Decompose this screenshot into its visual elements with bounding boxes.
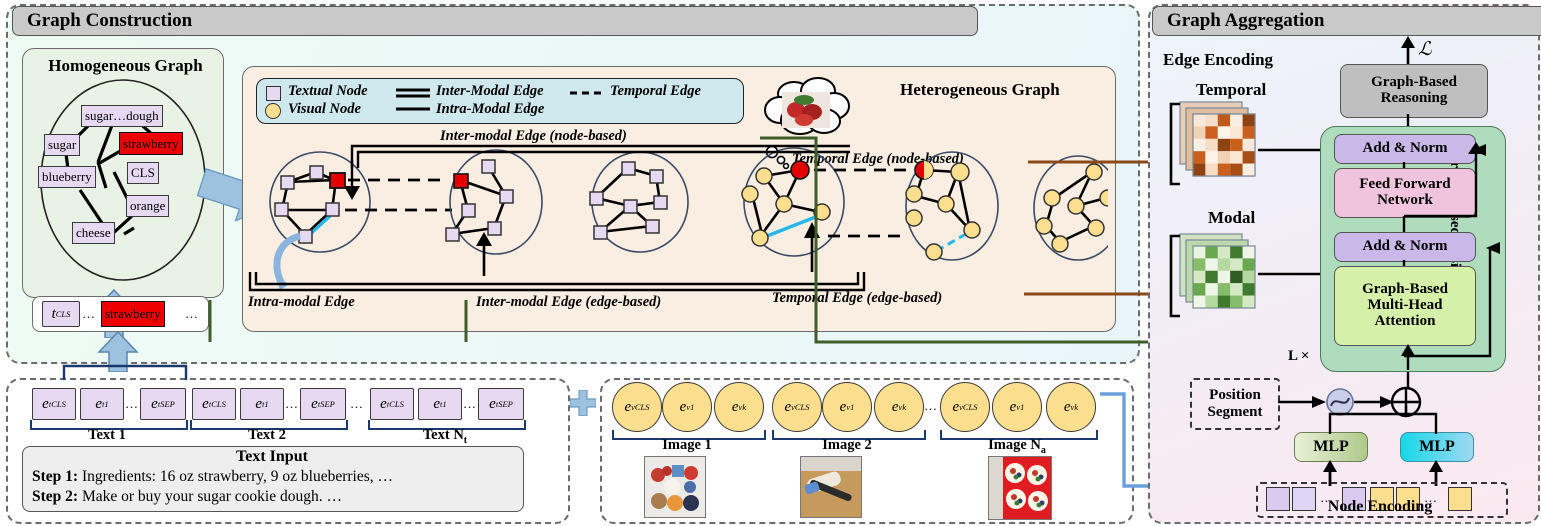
edge-encoding-title: Edge Encoding [1163, 50, 1273, 70]
textN-dots: … [463, 396, 476, 412]
temporal-bracket [1168, 102, 1182, 186]
legend-single-line-icon [396, 106, 430, 112]
image1-token-cls: evCLS [612, 382, 662, 432]
image2-label: Image 2 [772, 437, 922, 454]
dough-roll-photo [800, 456, 862, 518]
token-strawberry: strawberry [101, 301, 165, 327]
node-encoding-title: Node Encoding [1256, 498, 1504, 516]
position-segment-line-1: Position [1209, 387, 1261, 404]
image1-token-1: ev1 [662, 382, 712, 432]
homogeneous-graph-title: Homogeneous Graph [33, 56, 218, 76]
legend-visual-node-icon [265, 103, 281, 119]
fusion-internal-wiring [1326, 134, 1502, 366]
image1-token-k: evk [714, 382, 764, 432]
text1-token-sep: etSEP [140, 388, 186, 420]
text-to-token-bracket [60, 362, 190, 382]
token-dots-1: … [82, 306, 95, 322]
step1-label: Step 1: [32, 468, 78, 485]
text2-token-1: et1 [240, 388, 284, 420]
text1-token-1: et1 [80, 388, 124, 420]
textN-label-text: Text N [423, 427, 464, 443]
plus-to-attention-line [1398, 370, 1418, 388]
imageN-token-cls: evCLS [940, 382, 990, 432]
token-cls: tCLS [42, 301, 80, 327]
mlp-right-label: MLP [1419, 439, 1455, 456]
legend-double-line-icon [396, 88, 430, 98]
imageN-label: Image Na [940, 437, 1094, 456]
legend-label-temporal-edge: Temporal Edge [610, 83, 701, 100]
mlp-left-label: MLP [1313, 439, 1349, 456]
mlp-right-box[interactable]: MLP [1400, 432, 1474, 462]
position-segment-line-2: Segment [1208, 404, 1263, 421]
legend-textual-node-icon [266, 86, 281, 101]
step2-label: Step 2: [32, 488, 78, 505]
graph-aggregation-header: Graph Aggregation [1152, 6, 1541, 36]
imageN-label-text: Image N [988, 437, 1041, 453]
heterogeneous-graph-title: Heterogeneous Graph [900, 80, 1060, 100]
homog-node-sugar: sugar [44, 134, 80, 156]
modal-label: Modal [1208, 208, 1255, 228]
loss-symbol: ℒ [1418, 38, 1432, 61]
legend-label-visual-node: Visual Node [288, 101, 361, 118]
homog-node-strawberry: strawberry [119, 132, 183, 155]
imageN-token-k: evk [1046, 382, 1096, 432]
homog-node-cls: CLS [127, 162, 159, 184]
text-input-line-1: Step 1: Ingredients: 16 oz strawberry, 9… [32, 468, 393, 486]
legend-label-inter-modal-edge: Inter-Modal Edge [436, 83, 544, 100]
text2-dots: … [285, 396, 298, 412]
token-cls-sub: CLS [56, 309, 71, 319]
graph-aggregation-title: Graph Aggregation [1167, 10, 1324, 32]
graph-based-reasoning-box[interactable]: Graph-Based Reasoning [1340, 64, 1488, 118]
image2-token-k: evk [874, 382, 924, 432]
image1-label: Image 1 [612, 437, 762, 454]
temporal-label: Temporal [1196, 80, 1266, 100]
text1-dots: … [125, 396, 138, 412]
loop-label: L × [1288, 348, 1309, 365]
temporal-matrix-icon [1178, 100, 1268, 186]
textN-token-sep: etSEP [478, 388, 524, 420]
reasoning-line-1: Graph-Based [1371, 75, 1457, 91]
mlp-left-box[interactable]: MLP [1294, 432, 1368, 462]
finished-dessert-photo [988, 456, 1052, 520]
modal-bracket [1168, 234, 1182, 318]
plus-icon [570, 390, 596, 416]
textN-label: Text Nt [368, 427, 522, 446]
text2-token-sep: etSEP [300, 388, 346, 420]
legend-label-textual-node: Textual Node [288, 83, 368, 100]
textN-token-1: et1 [418, 388, 462, 420]
loss-arrow-icon [1398, 36, 1418, 66]
modal-matrix-icon [1178, 232, 1268, 318]
image2-token-cls: evCLS [772, 382, 822, 432]
text2-label: Text 2 [190, 427, 344, 444]
image2-token-1: ev1 [822, 382, 872, 432]
mlp-wiring [1288, 404, 1488, 434]
text1-token-cls: etCLS [32, 388, 76, 420]
text2-token-cls: etCLS [192, 388, 236, 420]
text-groups-separator: … [350, 396, 363, 412]
graph-construction-title: Graph Construction [27, 10, 192, 32]
position-segment-box: Position Segment [1190, 378, 1280, 430]
image-groups-separator: … [924, 398, 937, 414]
attention-residual-in [1398, 344, 1418, 370]
text-input-line-2: Step 2: Make or buy your sugar cookie do… [32, 488, 342, 506]
step2-text: Make or buy your sugar cookie dough. … [78, 488, 342, 505]
homog-node-sugar-dough: sugar…dough [81, 105, 163, 127]
textN-label-sub: t [464, 435, 467, 446]
imageN-token-1: ev1 [992, 382, 1042, 432]
graph-construction-header: Graph Construction [12, 6, 978, 36]
ingredients-photo [644, 456, 706, 518]
figure-root: Graph Construction Homogeneous Graph sug… [0, 0, 1541, 526]
text1-label: Text 1 [30, 427, 184, 444]
legend-label-intra-modal-edge: Intra-Modal Edge [436, 101, 544, 118]
imageN-label-sub: a [1041, 445, 1046, 456]
homog-node-orange: orange [126, 195, 169, 217]
reasoning-line-2: Reasoning [1381, 91, 1448, 107]
step1-text: Ingredients: 16 oz strawberry, 9 oz blue… [78, 468, 393, 485]
textN-token-cls: etCLS [370, 388, 414, 420]
text-input-box-title: Text Input [22, 448, 522, 466]
legend-dashed-line-icon [570, 90, 604, 96]
homog-node-cheese: cheese [72, 222, 115, 244]
homog-node-blueberry: blueberry [38, 166, 96, 188]
